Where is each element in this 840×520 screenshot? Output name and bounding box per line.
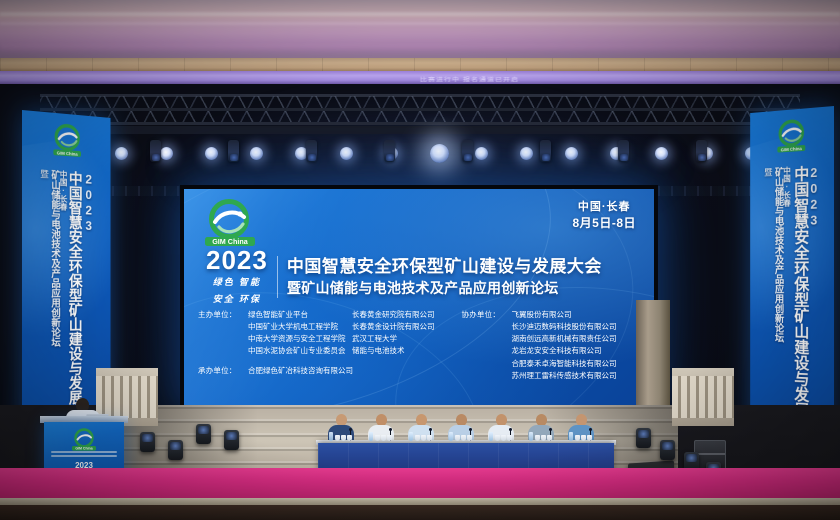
stage-lamp (205, 147, 218, 160)
coorganizer-item: 飞翼股份有限公司 (512, 309, 572, 321)
right-banner-text-columns: 2023 中国智慧安全环保型矿山建设与发展大会 中国·长春 矿山储能与电池技术及… (750, 164, 834, 444)
table-cup (467, 435, 472, 441)
moving-head-fixture (696, 140, 707, 162)
coorganizer-row: 长沙迪迈数码科技股份有限公司 (462, 321, 640, 333)
table-cup (575, 435, 580, 441)
event-city: 中国·长春 (572, 200, 636, 215)
coorganizer-item: 龙岩龙安安全科技有限公司 (512, 345, 602, 357)
ceiling-led-ticker-text: 比赛进行中 报名通道已开启 (420, 76, 519, 84)
water-bottle (409, 432, 413, 441)
host-col2-item: 储能与电池技术 (352, 345, 446, 357)
event-year: 2023 (206, 247, 268, 273)
stage-lamp (430, 144, 449, 163)
table-cup (501, 435, 506, 441)
gim-china-logo-icon: GIM China (773, 118, 810, 159)
main-led-screen: GIM China 中国·长春 8月5日-8日 2023 绿色 智能 安全 环保… (180, 185, 658, 411)
coorganizer-row: 苏州理工雷科传感技术有限公司 (462, 370, 640, 382)
event-titles: 中国智慧安全环保型矿山建设与发展大会 暨矿山储能与电池技术及产品应用创新论坛 (287, 256, 602, 296)
table-cup (421, 435, 426, 441)
table-cup (495, 435, 500, 441)
event-location-date: 中国·长春 8月5日-8日 (572, 200, 636, 231)
conference-stage-photo: 比赛进行中 报名通道已开启 GIM China 2023 中国智慧安全环保型矿山… (0, 0, 840, 520)
stage-carpet (0, 468, 840, 502)
host-col1-item: 中国水泥协会矿山专业委员会 (248, 345, 352, 357)
coorganizer-item: 长沙迪迈数码科技股份有限公司 (512, 321, 617, 333)
stage-lamp (475, 147, 488, 160)
foreground-floor (0, 505, 840, 520)
table-cup (535, 435, 540, 441)
event-year-block: 2023 绿色 智能 安全 环保 (206, 247, 268, 306)
ceiling-cornice (0, 58, 840, 72)
table-cup (341, 435, 346, 441)
table-cup (375, 435, 380, 441)
moving-head-fixture (228, 140, 239, 162)
moving-head-fixture (306, 140, 317, 162)
water-bottle (369, 432, 373, 441)
table-cup (427, 435, 432, 441)
coorganizer-item: 湖南创远高新机械有限责任公司 (512, 333, 617, 345)
title-divider (277, 256, 278, 298)
floor-moving-light (168, 440, 183, 460)
ceiling-light-band (0, 22, 840, 25)
water-bottle (449, 432, 453, 441)
table-cup (547, 435, 552, 441)
water-bottle (529, 432, 533, 441)
main-led-screen-content: GIM China 中国·长春 8月5日-8日 2023 绿色 智能 安全 环保… (184, 189, 654, 407)
host-col1-item: 中南大学资源与安全工程学院 (248, 333, 352, 345)
event-title-sub: 暨矿山储能与电池技术及产品应用创新论坛 (287, 279, 602, 297)
stage-lamp (340, 147, 353, 160)
table-cup (387, 435, 392, 441)
balustrade-right (672, 368, 734, 426)
right-banner-subtitle: 矿山储能与电池技术及产品应用创新论坛 (772, 167, 781, 440)
host-col1-item: 中国矿业大学机电工程学院 (248, 321, 352, 333)
event-slogan-line1: 绿色 智能 (206, 276, 268, 290)
undertaker-label: 承办单位： (198, 365, 248, 377)
table-cup (347, 435, 352, 441)
water-bottle (489, 432, 493, 441)
svg-text:GIM China: GIM China (57, 150, 78, 156)
stage-lamp (160, 147, 173, 160)
stage-lamp (565, 147, 578, 160)
water-bottle (569, 432, 573, 441)
stage-lamp (115, 147, 128, 160)
table-cup (507, 435, 512, 441)
right-banner-year: 2023 (807, 165, 820, 443)
host-col2-item: 武汉工程大学 (352, 333, 446, 345)
coorganizer-item: 苏州理工雷科传感技术有限公司 (512, 370, 617, 382)
undertaker-name: 合肥绿色矿冶科技咨询有限公司 (248, 365, 353, 377)
event-slogan-line2: 安全 环保 (206, 293, 268, 307)
host-col2-item: 长春黄金研究院有限公司 (352, 309, 446, 321)
lighting-truss-secondary (60, 126, 780, 134)
host-col1-item: 绿色智能矿业平台 (248, 309, 352, 321)
coorganizer-label: 协办单位： (462, 309, 512, 321)
table-cup (541, 435, 546, 441)
floor-moving-light (196, 424, 211, 444)
table-cup (415, 435, 420, 441)
organizer-hosts: 主办单位： 绿色智能矿业平台 长春黄金研究院有限公司 中国矿业大学机电工程学院 … (198, 309, 446, 382)
moving-head-fixture (150, 140, 161, 162)
floor-moving-light (140, 432, 155, 452)
table-cup (455, 435, 460, 441)
table-cup (461, 435, 466, 441)
ceiling-light-band (0, 44, 840, 52)
coorganizer-row: 协办单位： 飞翼股份有限公司 (462, 309, 640, 321)
host-row: 中国矿业大学机电工程学院 长春黄金设计院有限公司 (198, 321, 446, 333)
floor-moving-light (660, 440, 675, 460)
table-cup (581, 435, 586, 441)
right-banner-city: 中国·长春 (783, 166, 791, 440)
coorganizer-row: 合肥泰禾卓海智能科技有限公司 (462, 358, 640, 370)
table-cup (587, 435, 592, 441)
coorganizer-item: 合肥泰禾卓海智能科技有限公司 (512, 358, 617, 370)
hall-ceiling (0, 0, 840, 62)
stage-lamp (655, 147, 668, 160)
left-banner-city: 中国·长春 (59, 170, 67, 445)
ceiling-light-band (0, 12, 840, 16)
moving-head-fixture (462, 140, 473, 162)
right-banner-title: 中国智慧安全环保型矿山建设与发展大会 (791, 166, 806, 442)
podium-title-line-2 (51, 455, 117, 457)
event-date: 8月5日-8日 (572, 215, 636, 231)
moving-head-fixture (540, 140, 551, 162)
floor-moving-light (636, 428, 651, 448)
svg-text:GIM China: GIM China (781, 146, 803, 152)
truss-chord (40, 122, 800, 125)
gim-china-logo-icon: GIM China (49, 122, 86, 163)
stage-lamp (520, 147, 533, 160)
floor-moving-light (224, 430, 239, 450)
event-title-main: 中国智慧安全环保型矿山建设与发展大会 (287, 256, 602, 277)
truss-chord (40, 108, 800, 111)
host-row: 中南大学资源与安全工程学院 武汉工程大学 (198, 333, 446, 345)
right-banner-mark: 暨 (763, 168, 771, 440)
ceiling-led-ticker: 比赛进行中 报名通道已开启 (0, 71, 840, 84)
organizer-coorganizers: 协办单位： 飞翼股份有限公司 长沙迪迈数码科技股份有限公司 湖南创远高新机械有限… (446, 309, 640, 382)
host-col2-item: 长春黄金设计院有限公司 (352, 321, 446, 333)
screen-title-row: 2023 绿色 智能 安全 环保 中国智慧安全环保型矿山建设与发展大会 暨矿山储… (206, 247, 602, 306)
water-bottle (329, 432, 333, 441)
table-cup (335, 435, 340, 441)
organizer-block: 主办单位： 绿色智能矿业平台 长春黄金研究院有限公司 中国矿业大学机电工程学院 … (184, 309, 654, 382)
table-cup (381, 435, 386, 441)
host-row: 中国水泥协会矿山专业委员会 储能与电池技术 (198, 345, 446, 357)
stage-lamp (250, 147, 263, 160)
undertaker-row: 承办单位： 合肥绿色矿冶科技咨询有限公司 (198, 365, 446, 377)
podium-title-line-1 (51, 451, 117, 453)
host-row: 主办单位： 绿色智能矿业平台 长春黄金研究院有限公司 (198, 309, 446, 321)
moving-head-fixture (384, 140, 395, 162)
host-label: 主办单位： (198, 309, 248, 321)
coorganizer-row: 湖南创远高新机械有限责任公司 (462, 333, 640, 345)
moving-head-fixture (618, 140, 629, 162)
coorganizer-row: 龙岩龙安安全科技有限公司 (462, 345, 640, 357)
lighting-truss (40, 92, 800, 126)
